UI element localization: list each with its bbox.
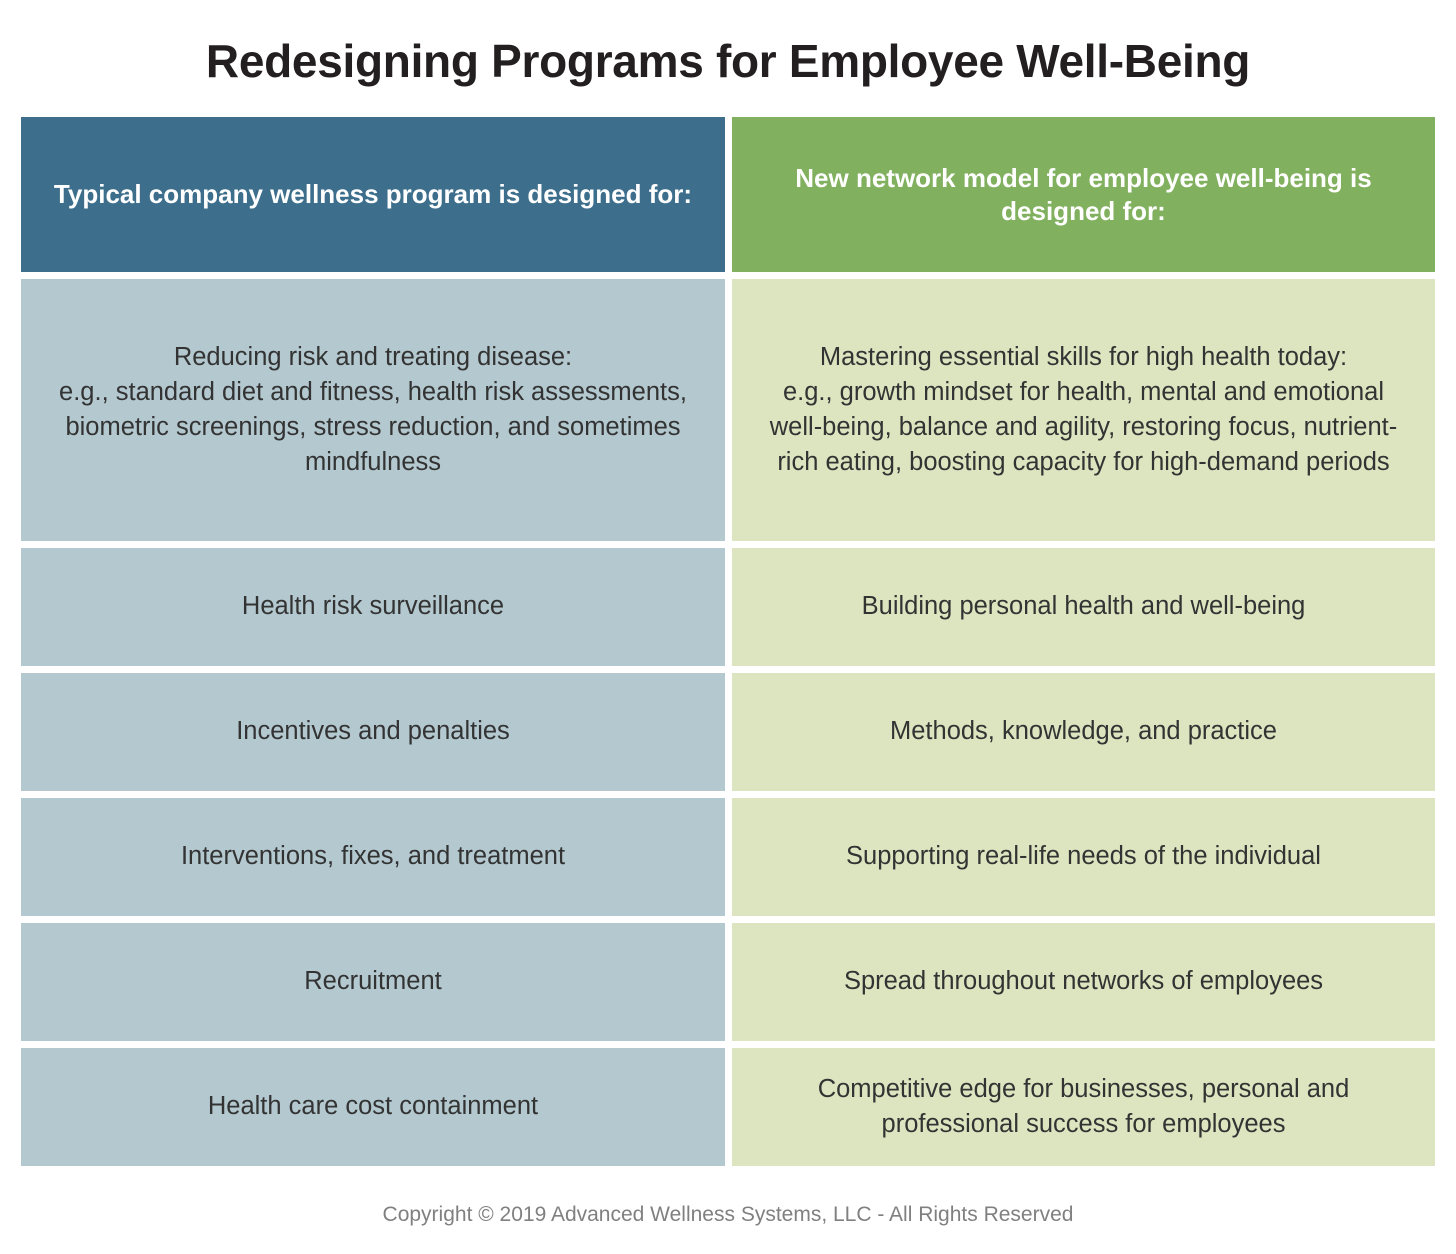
table-cell-text: Competitive edge for businesses, persona…	[754, 1072, 1413, 1142]
table-cell-left: Health care cost containment	[21, 1048, 725, 1166]
table-cell-text: Recruitment	[304, 964, 441, 999]
table-cell-text: Reducing risk and treating disease: e.g.…	[43, 340, 703, 481]
table-cell-left: Recruitment	[21, 923, 725, 1041]
table-cell-right: Supporting real-life needs of the indivi…	[732, 798, 1435, 916]
table-row: Health risk surveillance Building person…	[21, 548, 1435, 666]
table-row: Reducing risk and treating disease: e.g.…	[21, 279, 1435, 541]
table-cell-text: Health risk surveillance	[242, 589, 504, 624]
table-cell-left: Interventions, fixes, and treatment	[21, 798, 725, 916]
table-row: Incentives and penalties Methods, knowle…	[21, 673, 1435, 791]
table-header-label-left: Typical company wellness program is desi…	[54, 178, 692, 211]
table-cell-left: Incentives and penalties	[21, 673, 725, 791]
infographic-page: Redesigning Programs for Employee Well-B…	[0, 0, 1456, 1254]
table-cell-text: Methods, knowledge, and practice	[890, 714, 1277, 749]
table-cell-right: Spread throughout networks of employees	[732, 923, 1435, 1041]
page-title: Redesigning Programs for Employee Well-B…	[0, 36, 1456, 87]
table-cell-text: Health care cost containment	[208, 1089, 538, 1124]
table-row: Health care cost containment Competitive…	[21, 1048, 1435, 1166]
table-header-cell-typical-program: Typical company wellness program is desi…	[21, 117, 725, 272]
table-cell-text: Mastering essential skills for high heal…	[754, 340, 1413, 481]
table-cell-text: Interventions, fixes, and treatment	[181, 839, 565, 874]
table-cell-text: Incentives and penalties	[236, 714, 510, 749]
copyright-footer: Copyright © 2019 Advanced Wellness Syste…	[0, 1203, 1456, 1227]
table-cell-right: Mastering essential skills for high heal…	[732, 279, 1435, 541]
table-cell-left: Reducing risk and treating disease: e.g.…	[21, 279, 725, 541]
table-cell-text: Supporting real-life needs of the indivi…	[846, 839, 1321, 874]
table-row: Interventions, fixes, and treatment Supp…	[21, 798, 1435, 916]
table-cell-right: Competitive edge for businesses, persona…	[732, 1048, 1435, 1166]
table-cell-left: Health risk surveillance	[21, 548, 725, 666]
table-header-label-right: New network model for employee well-bein…	[754, 162, 1413, 227]
table-header-cell-new-model: New network model for employee well-bein…	[732, 117, 1435, 272]
table-row: Recruitment Spread throughout networks o…	[21, 923, 1435, 1041]
table-cell-text: Spread throughout networks of employees	[844, 964, 1323, 999]
table-header-row: Typical company wellness program is desi…	[21, 117, 1435, 272]
table-cell-text: Building personal health and well-being	[862, 589, 1306, 624]
comparison-table: Typical company wellness program is desi…	[21, 117, 1435, 1173]
table-cell-right: Building personal health and well-being	[732, 548, 1435, 666]
table-cell-right: Methods, knowledge, and practice	[732, 673, 1435, 791]
